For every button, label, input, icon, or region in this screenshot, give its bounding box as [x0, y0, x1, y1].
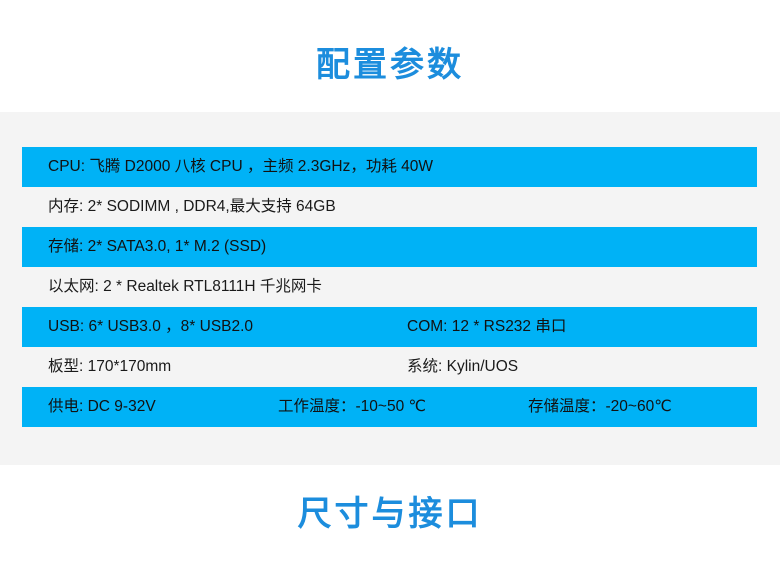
spec-cell-operating-temp: 工作温度：-10~50 ℃: [278, 399, 426, 415]
spec-cell-power: 供电: DC 9-32V: [48, 399, 156, 415]
spec-panel: CPU: 飞腾 D2000 八核 CPU ，主频 2.3GHz，功耗 40W 内…: [0, 112, 780, 465]
spec-table: CPU: 飞腾 D2000 八核 CPU ，主频 2.3GHz，功耗 40W 内…: [22, 147, 757, 427]
spec-cell-memory: 内存: 2* SODIMM , DDR4,最大支持 64GB: [48, 199, 336, 215]
spec-cell-cpu: CPU: 飞腾 D2000 八核 CPU ，主频 2.3GHz，功耗 40W: [48, 159, 433, 175]
table-row: USB: 6* USB3.0 ，8* USB2.0 COM: 12 * RS23…: [22, 307, 757, 347]
table-row: 板型: 170*170mm 系统: Kylin/UOS: [22, 347, 757, 387]
spec-cell-storage-temp: 存储温度：-20~60℃: [528, 399, 672, 415]
spec-cell-storage: 存储: 2* SATA3.0, 1* M.2 (SSD): [48, 239, 266, 255]
page-title: 配置参数: [316, 30, 464, 82]
top-title-band: 配置参数: [0, 0, 780, 112]
spec-cell-os: 系统: Kylin/UOS: [407, 359, 518, 375]
spec-cell-usb: USB: 6* USB3.0 ，8* USB2.0: [48, 319, 253, 335]
table-row: 内存: 2* SODIMM , DDR4,最大支持 64GB: [22, 187, 757, 227]
bottom-title-band: 尺寸与接口: [0, 465, 780, 570]
spec-cell-com: COM: 12 * RS232 串口: [407, 319, 566, 335]
spec-cell-board-size: 板型: 170*170mm: [48, 359, 171, 375]
spec-cell-ethernet: 以太网: 2 * Realtek RTL8111H 千兆网卡: [48, 279, 322, 295]
table-row: 以太网: 2 * Realtek RTL8111H 千兆网卡: [22, 267, 757, 307]
table-row: 供电: DC 9-32V 工作温度：-10~50 ℃ 存储温度：-20~60℃: [22, 387, 757, 427]
table-row: CPU: 飞腾 D2000 八核 CPU ，主频 2.3GHz，功耗 40W: [22, 147, 757, 187]
table-row: 存储: 2* SATA3.0, 1* M.2 (SSD): [22, 227, 757, 267]
bottom-section-title: 尺寸与接口: [298, 497, 483, 539]
product-spec-page: 配置参数 CPU: 飞腾 D2000 八核 CPU ，主频 2.3GHz，功耗 …: [0, 0, 780, 570]
